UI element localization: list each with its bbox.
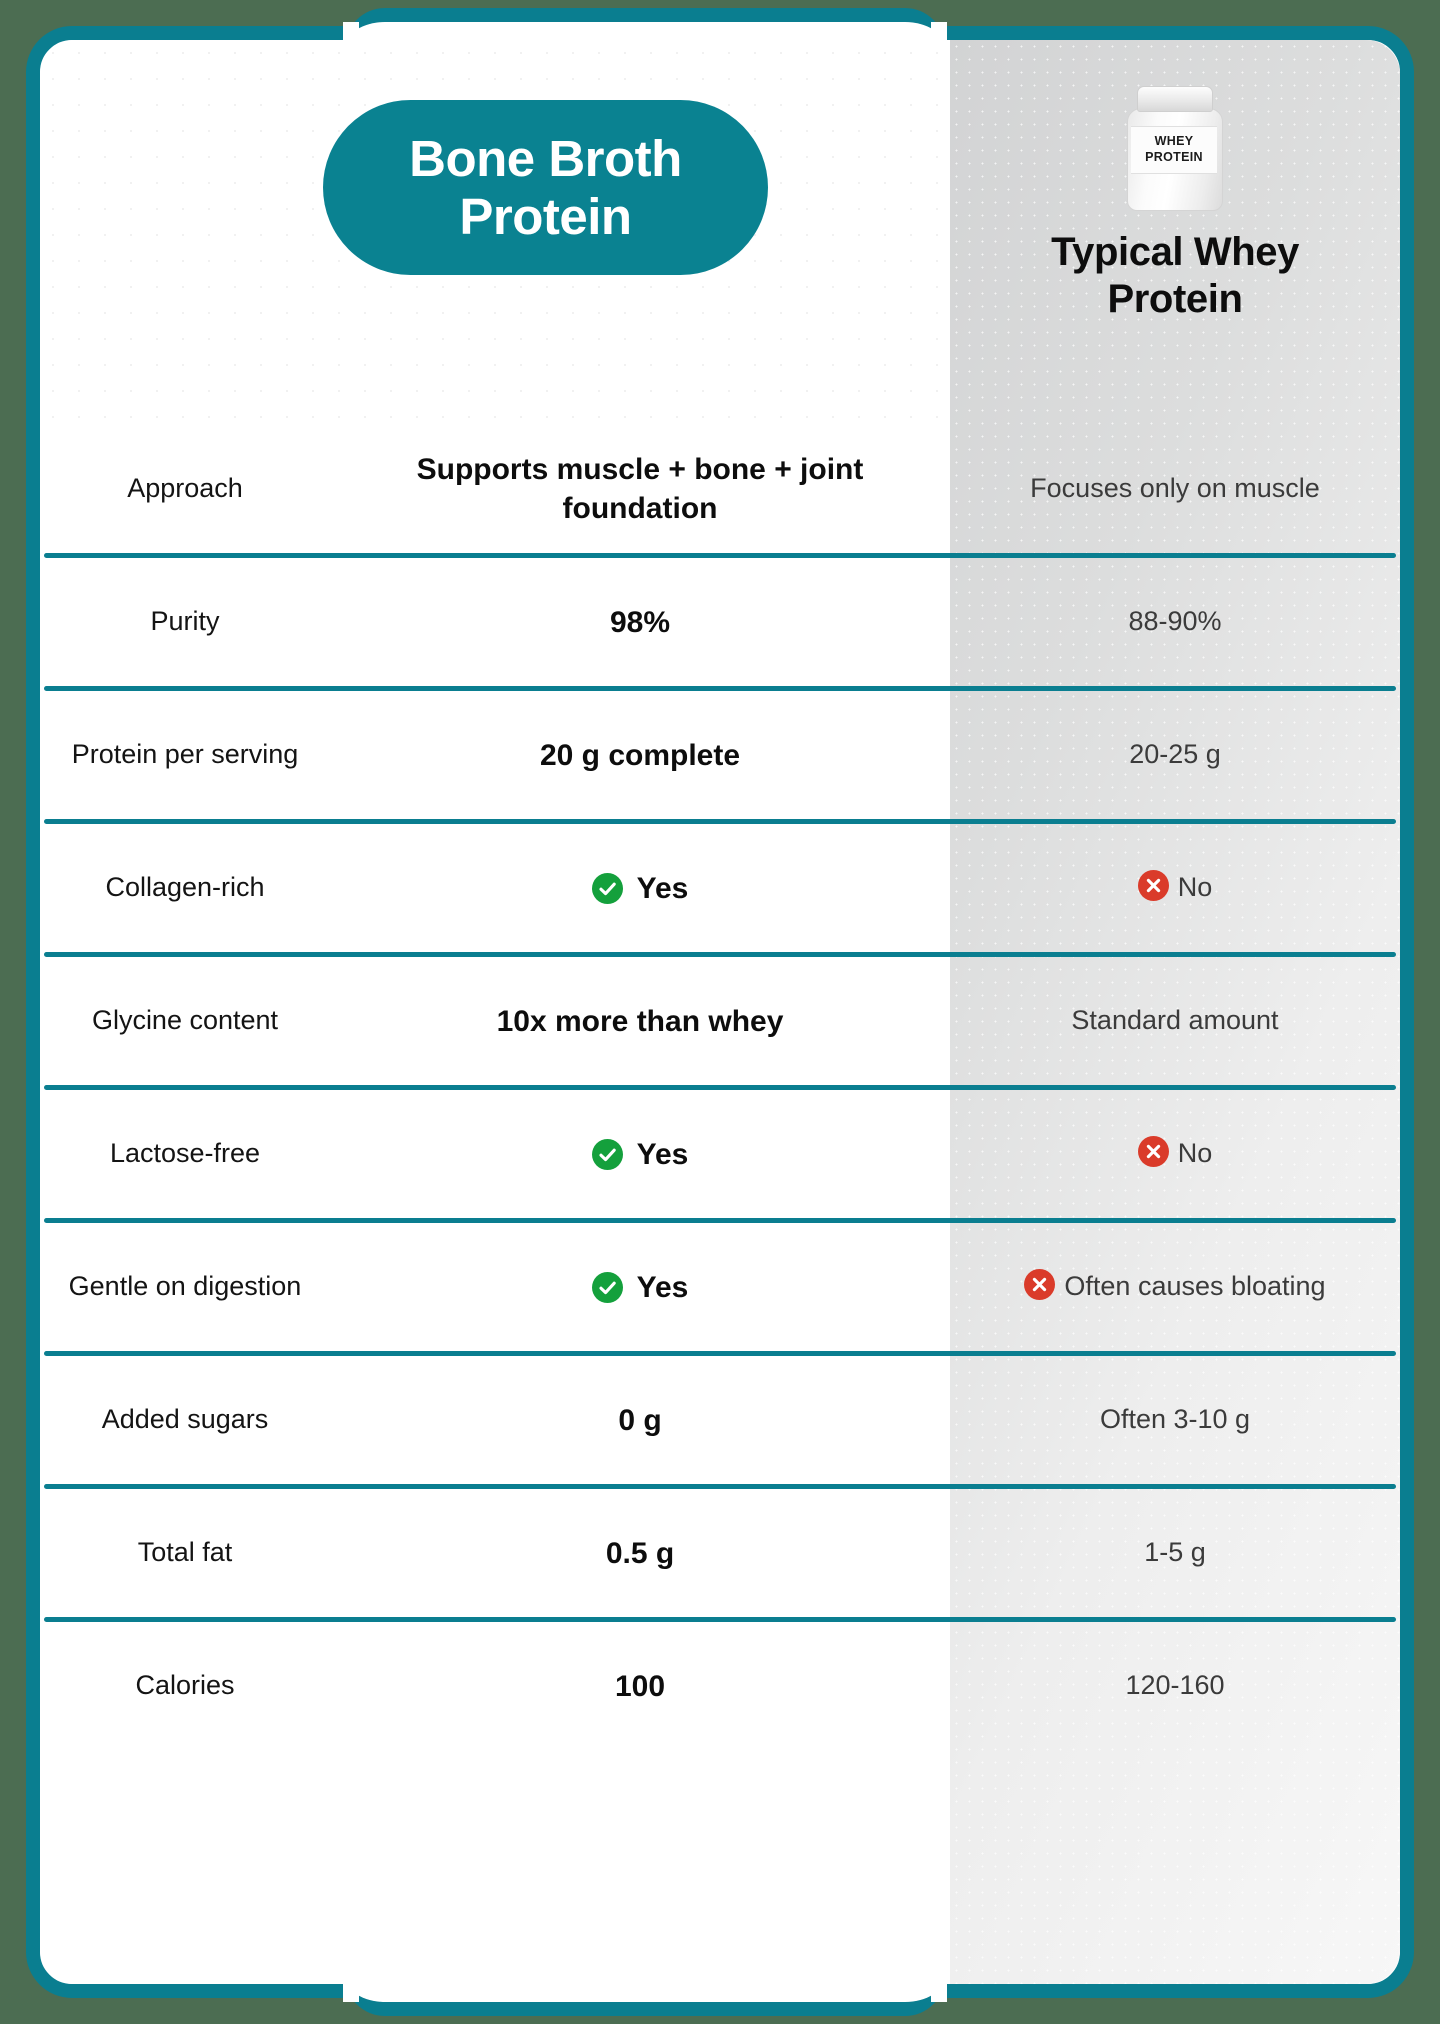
- brand-badge: Bone Broth Protein: [323, 100, 768, 275]
- tub-label-line-2: PROTEIN: [1145, 150, 1203, 166]
- whey-value-cell: Often causes bloating: [950, 1269, 1400, 1304]
- whey-value-text: Often 3-10 g: [1100, 1404, 1250, 1434]
- bone-broth-value-cell: 98%: [330, 603, 950, 642]
- bone-broth-value-cell: 20 g complete: [330, 736, 950, 775]
- row-label: Total fat: [40, 1535, 330, 1570]
- comparison-rows: ApproachSupports muscle + bone + joint f…: [40, 425, 1400, 1750]
- whey-value-cell: No: [950, 1136, 1400, 1171]
- brand-line-2: Protein: [459, 188, 631, 245]
- row-label: Glycine content: [40, 1003, 330, 1038]
- whey-value-cell: 88-90%: [950, 604, 1400, 639]
- cross-circle-icon: [1138, 1136, 1169, 1167]
- whey-value-cell: 1-5 g: [950, 1535, 1400, 1570]
- check-circle-icon: [592, 1139, 623, 1170]
- table-row: Purity98%88-90%: [40, 558, 1400, 686]
- table-row: Added sugars0 gOften 3-10 g: [40, 1356, 1400, 1484]
- whey-value-text: Focuses only on muscle: [1030, 473, 1320, 503]
- bone-broth-value-cell: Yes: [330, 869, 950, 908]
- whey-value-text: 88-90%: [1128, 606, 1221, 636]
- row-label: Gentle on digestion: [40, 1269, 330, 1304]
- check-circle-icon: [592, 1272, 623, 1303]
- table-row: Total fat0.5 g1-5 g: [40, 1489, 1400, 1617]
- brand-badge-text: Bone Broth Protein: [409, 130, 682, 244]
- whey-value-cell: 20-25 g: [950, 737, 1400, 772]
- bone-broth-value-cell: Yes: [330, 1135, 950, 1174]
- bone-broth-value-text: Yes: [637, 869, 689, 908]
- whey-value-text: 120-160: [1125, 1670, 1224, 1700]
- competitor-title: Typical Whey Protein: [1051, 229, 1299, 323]
- whey-value-text: No: [1178, 1138, 1213, 1168]
- row-label: Protein per serving: [40, 737, 330, 772]
- brand-line-1: Bone Broth: [409, 130, 682, 187]
- competitor-title-line-2: Protein: [1107, 277, 1242, 321]
- whey-value-cell: 120-160: [950, 1668, 1400, 1703]
- bone-broth-value-cell: Yes: [330, 1268, 950, 1307]
- table-row: Glycine content10x more than wheyStandar…: [40, 957, 1400, 1085]
- table-row: ApproachSupports muscle + bone + joint f…: [40, 425, 1400, 553]
- bone-broth-value-text: Yes: [637, 1135, 689, 1174]
- cross-circle-icon: [1138, 870, 1169, 901]
- table-row: Gentle on digestionYesOften causes bloat…: [40, 1223, 1400, 1351]
- tub-label-line-1: WHEY: [1155, 134, 1194, 150]
- bone-broth-value-text: Yes: [637, 1268, 689, 1307]
- bone-broth-value-cell: 0 g: [330, 1401, 950, 1440]
- comparison-table-card: Bone Broth Protein WHEY PROTEIN Typical …: [40, 40, 1400, 1984]
- bone-broth-value-text: 100: [615, 1667, 665, 1706]
- whey-value-cell: Often 3-10 g: [950, 1402, 1400, 1437]
- whey-value-cell: Standard amount: [950, 1003, 1400, 1038]
- competitor-title-line-1: Typical Whey: [1051, 230, 1299, 274]
- whey-value-cell: No: [950, 870, 1400, 905]
- row-label: Purity: [40, 604, 330, 639]
- bone-broth-value-cell: 0.5 g: [330, 1534, 950, 1573]
- whey-value-cell: Focuses only on muscle: [950, 471, 1400, 506]
- bone-broth-value-text: 0.5 g: [606, 1534, 674, 1573]
- row-label: Added sugars: [40, 1402, 330, 1437]
- whey-value-text: 20-25 g: [1129, 739, 1221, 769]
- whey-protein-tub-icon: WHEY PROTEIN: [1127, 86, 1223, 211]
- bone-broth-value-text: 10x more than whey: [497, 1002, 784, 1041]
- bone-broth-value-cell: Supports muscle + bone + joint foundatio…: [330, 450, 950, 528]
- row-label: Collagen-rich: [40, 870, 330, 905]
- whey-value-text: 1-5 g: [1144, 1537, 1206, 1567]
- cross-circle-icon: [1024, 1269, 1055, 1300]
- bone-broth-value-text: 20 g complete: [540, 736, 740, 775]
- table-header: Bone Broth Protein WHEY PROTEIN Typical …: [40, 40, 1400, 425]
- table-row: Lactose-freeYesNo: [40, 1090, 1400, 1218]
- bone-broth-value-text: Supports muscle + bone + joint foundatio…: [354, 450, 926, 528]
- tub-lid: [1137, 86, 1213, 112]
- tub-label: WHEY PROTEIN: [1131, 126, 1217, 174]
- bone-broth-value-text: 0 g: [618, 1401, 661, 1440]
- whey-value-text: Standard amount: [1071, 1005, 1278, 1035]
- check-circle-icon: [592, 873, 623, 904]
- whey-value-text: No: [1178, 872, 1213, 902]
- row-label: Lactose-free: [40, 1136, 330, 1171]
- bone-broth-value-cell: 10x more than whey: [330, 1002, 950, 1041]
- competitor-header: WHEY PROTEIN Typical Whey Protein: [950, 60, 1400, 323]
- table-row: Protein per serving20 g complete20-25 g: [40, 691, 1400, 819]
- bone-broth-value-cell: 100: [330, 1667, 950, 1706]
- table-row: Collagen-richYesNo: [40, 824, 1400, 952]
- bone-broth-value-text: 98%: [610, 603, 670, 642]
- table-row: Calories100120-160: [40, 1622, 1400, 1750]
- row-label: Approach: [40, 471, 330, 506]
- whey-value-text: Often causes bloating: [1064, 1271, 1325, 1301]
- row-label: Calories: [40, 1668, 330, 1703]
